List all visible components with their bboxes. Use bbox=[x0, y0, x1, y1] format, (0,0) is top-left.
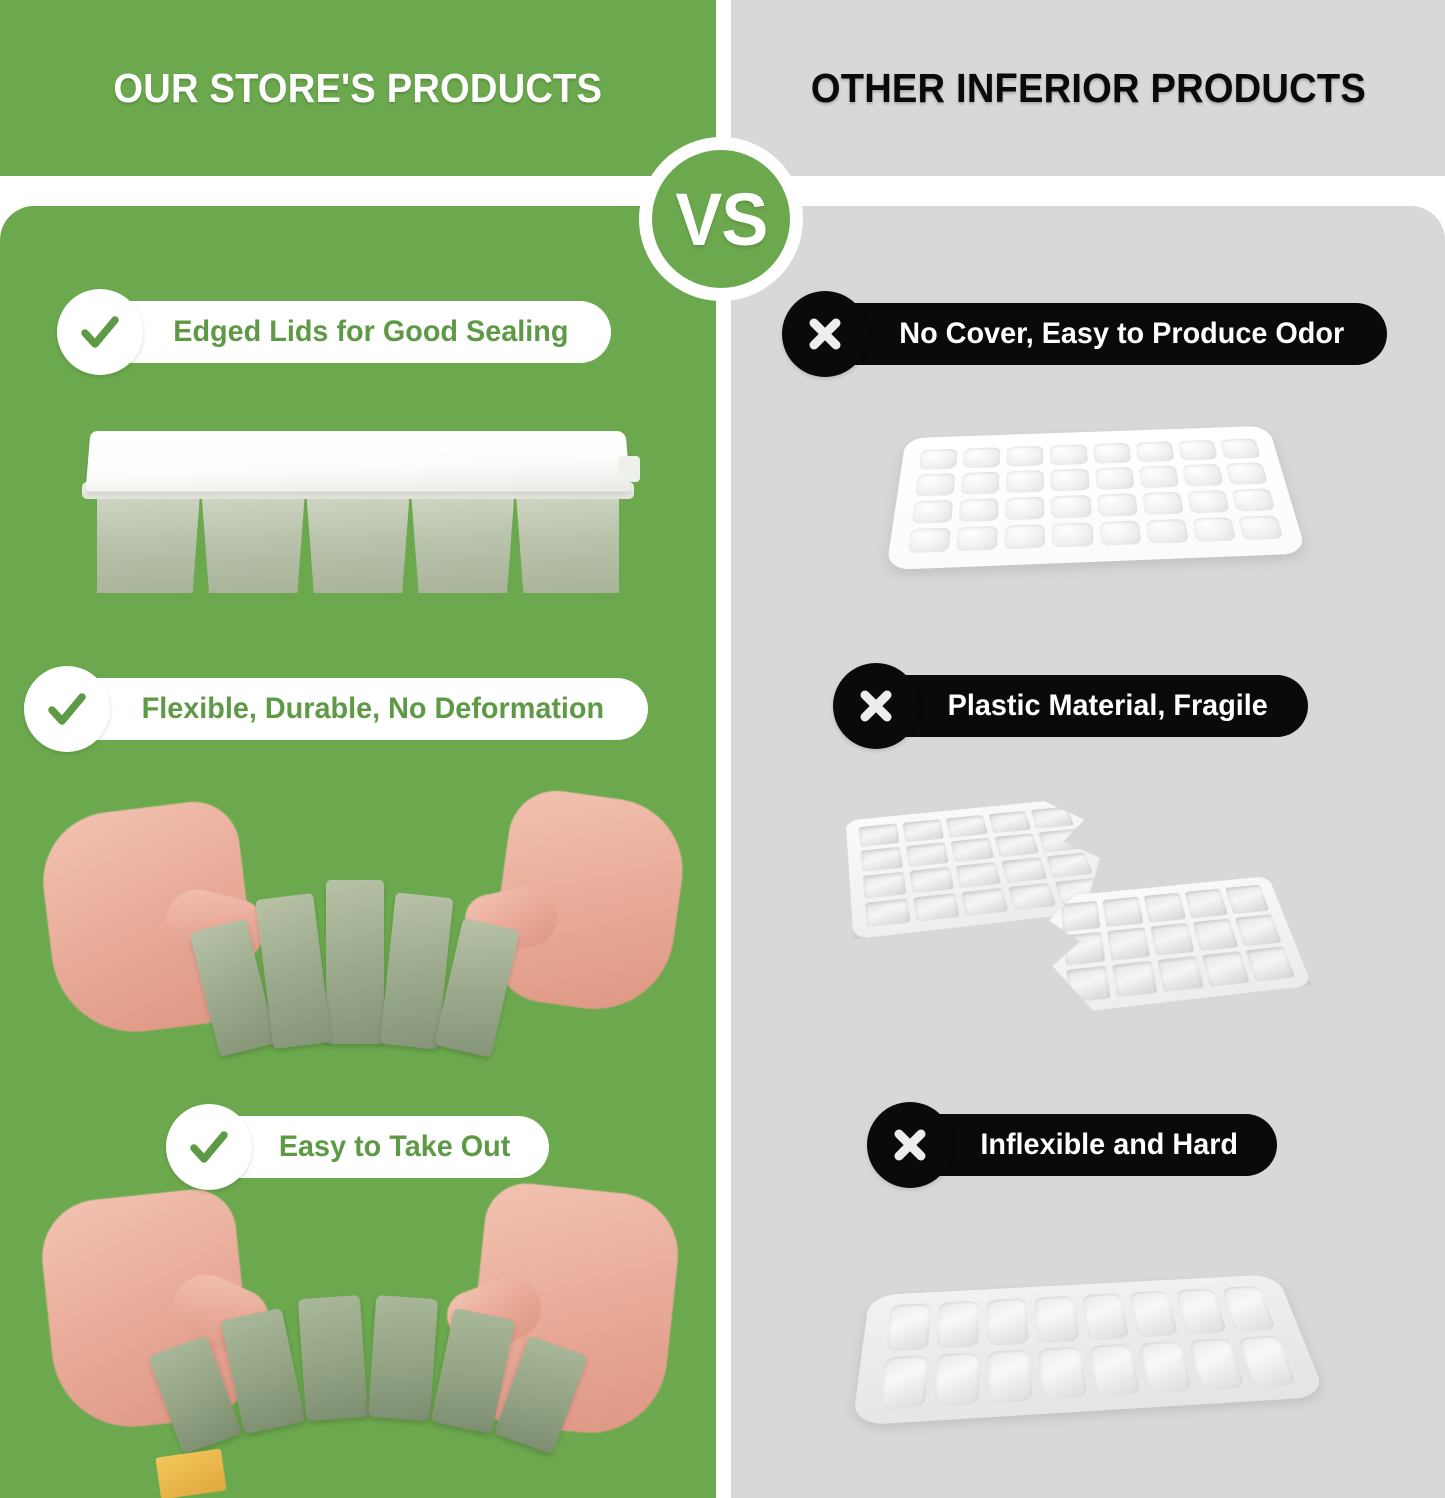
tray-cell bbox=[1142, 491, 1184, 515]
feature-pill-bar: Flexible, Durable, No Deformation bbox=[62, 678, 648, 740]
tray-cell bbox=[368, 1295, 438, 1421]
tray-cell bbox=[1135, 441, 1174, 462]
release-tab bbox=[155, 1449, 226, 1498]
tray-cell bbox=[1129, 1291, 1178, 1337]
tray-cell bbox=[995, 833, 1039, 857]
tray-cell bbox=[912, 500, 954, 524]
tray-cell bbox=[961, 888, 1008, 916]
tray-cell bbox=[1225, 885, 1269, 915]
tray-cell bbox=[1225, 462, 1267, 484]
tray-cell bbox=[1046, 852, 1093, 878]
tray-cell bbox=[1051, 469, 1090, 491]
tray-cell bbox=[906, 842, 949, 867]
right-column-title: OTHER INFERIOR PRODUCTS bbox=[810, 65, 1365, 112]
tray-cell bbox=[1052, 522, 1093, 547]
feature-pill-flexible-durable: Flexible, Durable, No Deformation bbox=[24, 666, 648, 752]
tray-cell bbox=[1099, 520, 1141, 545]
tray-cell bbox=[959, 498, 999, 522]
ice-tray-16-cells bbox=[852, 1274, 1326, 1425]
feature-label: Edged Lids for Good Sealing bbox=[173, 315, 568, 349]
tray-compartments bbox=[97, 497, 619, 593]
drawback-pill-bar: No Cover, Easy to Produce Odor bbox=[820, 303, 1387, 365]
tray-cell bbox=[1185, 889, 1228, 919]
tray-cell bbox=[1178, 440, 1218, 461]
tray-cell bbox=[1112, 961, 1157, 998]
tray-cell bbox=[1107, 927, 1150, 960]
tray-cell bbox=[956, 862, 1001, 888]
bent-tray bbox=[162, 1287, 592, 1467]
tray-cell bbox=[1220, 438, 1261, 459]
ice-tray-32-cells bbox=[886, 426, 1307, 570]
tray-cell bbox=[861, 847, 903, 872]
tray-cell bbox=[1093, 443, 1131, 464]
tray-cell bbox=[1175, 1288, 1227, 1334]
drawback-label: Plastic Material, Fragile bbox=[948, 689, 1268, 723]
drawback-pill-inflexible-hard: Inflexible and Hard bbox=[867, 1102, 1277, 1188]
feature-label: Easy to Take Out bbox=[279, 1130, 511, 1164]
tray-cell bbox=[1063, 932, 1105, 966]
tray-cell bbox=[1238, 1335, 1297, 1387]
drawback-label: No Cover, Easy to Produce Odor bbox=[899, 317, 1344, 351]
tray-cell bbox=[1188, 1338, 1244, 1391]
tray-cell bbox=[1089, 1343, 1140, 1396]
broken-tray-half-lower-right bbox=[1048, 876, 1313, 1015]
tray-cell bbox=[988, 1349, 1033, 1403]
check-icon bbox=[24, 666, 110, 752]
tray-cell bbox=[935, 1352, 979, 1406]
tray-cell bbox=[956, 526, 998, 552]
tray-cell bbox=[863, 872, 907, 899]
tray-cell bbox=[1192, 517, 1236, 542]
drawback-label: Inflexible and Hard bbox=[980, 1128, 1238, 1162]
tray-cell bbox=[1039, 1346, 1087, 1400]
product-image-hands-twisting-tray bbox=[30, 790, 690, 1070]
tray-cell bbox=[1139, 1341, 1192, 1394]
tray-cell bbox=[1001, 857, 1047, 883]
tray-lid bbox=[85, 431, 630, 491]
tray-cell bbox=[1145, 519, 1188, 544]
tray-cell bbox=[1193, 918, 1239, 951]
tray-cell bbox=[1082, 1293, 1129, 1340]
check-icon bbox=[166, 1104, 252, 1190]
feature-pill-bar: Easy to Take Out bbox=[204, 1116, 549, 1178]
tray-cell bbox=[1006, 470, 1044, 493]
feature-pill-edged-lids: Edged Lids for Good Sealing bbox=[57, 289, 611, 375]
product-image-broken-plastic-tray bbox=[840, 770, 1300, 1055]
cross-icon bbox=[782, 291, 868, 377]
tray-cell bbox=[1031, 807, 1075, 829]
tray-cell bbox=[1221, 1286, 1275, 1332]
tray-cell bbox=[909, 867, 954, 894]
tray-cell bbox=[1051, 495, 1091, 519]
check-icon bbox=[57, 289, 143, 375]
tray-cell bbox=[988, 811, 1031, 834]
tray-cell bbox=[298, 1295, 368, 1421]
tray-cell bbox=[902, 819, 943, 842]
tray-cell bbox=[516, 497, 619, 593]
product-image-white-uncovered-tray bbox=[880, 385, 1310, 600]
tray-cell bbox=[1235, 914, 1282, 946]
tray-cell bbox=[1144, 893, 1186, 923]
drawback-pill-no-cover: No Cover, Easy to Produce Odor bbox=[782, 291, 1387, 377]
cross-icon bbox=[867, 1102, 953, 1188]
tray-cell bbox=[1202, 951, 1250, 987]
tray-cell bbox=[946, 815, 988, 838]
tray-cell bbox=[963, 447, 1001, 468]
tray-cell bbox=[1138, 466, 1179, 488]
tray-cell bbox=[908, 527, 951, 553]
right-column-header: OTHER INFERIOR PRODUCTS bbox=[731, 0, 1445, 176]
tray-cell bbox=[913, 893, 959, 922]
tray-cell bbox=[886, 1303, 930, 1351]
tray-cell bbox=[411, 497, 514, 593]
tray-cell bbox=[1061, 901, 1101, 932]
tray-cell bbox=[1035, 1296, 1080, 1343]
tray-cell bbox=[326, 880, 384, 1044]
comparison-infographic: OUR STORE'S PRODUCTS OTHER INFERIOR PROD… bbox=[0, 0, 1445, 1498]
versus-label: VS bbox=[675, 177, 767, 262]
tray-cell bbox=[1005, 496, 1044, 520]
tray-cell bbox=[202, 497, 305, 593]
drawback-pill-plastic-fragile: Plastic Material, Fragile bbox=[833, 663, 1308, 749]
product-image-covered-green-tray bbox=[88, 430, 628, 600]
product-image-hands-bending-tray bbox=[24, 1195, 700, 1495]
feature-pill-bar: Edged Lids for Good Sealing bbox=[95, 301, 611, 363]
left-column-header: OUR STORE'S PRODUCTS bbox=[0, 0, 716, 176]
tray-cell bbox=[1238, 515, 1283, 540]
drawback-pill-bar: Inflexible and Hard bbox=[905, 1114, 1277, 1176]
tray-cell bbox=[987, 1298, 1029, 1345]
tray-cell bbox=[1246, 946, 1295, 981]
tray-cell bbox=[859, 823, 900, 847]
versus-badge: VS bbox=[639, 137, 803, 301]
tray-cell bbox=[1050, 444, 1087, 465]
tray-cell bbox=[865, 898, 910, 927]
tray-cell bbox=[961, 472, 1000, 495]
tray-cell bbox=[1157, 956, 1204, 992]
tray-cell bbox=[1007, 446, 1044, 467]
lid-tab bbox=[618, 456, 640, 482]
tray-cell bbox=[915, 473, 955, 496]
tray-cell bbox=[1182, 464, 1223, 486]
tray-cell bbox=[97, 497, 200, 593]
tray-cell bbox=[880, 1355, 928, 1410]
feature-pill-easy-take-out: Easy to Take Out bbox=[166, 1104, 549, 1190]
tray-cell bbox=[1150, 923, 1194, 956]
product-image-rigid-ice-tray bbox=[850, 1235, 1320, 1465]
feature-label: Flexible, Durable, No Deformation bbox=[142, 692, 604, 726]
tray-cell bbox=[1187, 490, 1230, 514]
tray-cell bbox=[1097, 493, 1138, 517]
tray-cell bbox=[1102, 897, 1143, 928]
tray-cell bbox=[1005, 524, 1046, 549]
left-column-title: OUR STORE'S PRODUCTS bbox=[114, 65, 603, 112]
tray-cell bbox=[1038, 829, 1083, 853]
drawback-pill-bar: Plastic Material, Fragile bbox=[871, 675, 1308, 737]
tray-cell bbox=[937, 1301, 979, 1349]
cross-icon bbox=[833, 663, 919, 749]
tray-cell bbox=[1095, 467, 1135, 489]
tray-cell bbox=[1008, 883, 1056, 911]
tray-cell bbox=[950, 838, 994, 863]
tray-cell bbox=[1066, 966, 1110, 1003]
tray-cell bbox=[307, 497, 410, 593]
tray-cell bbox=[919, 449, 958, 470]
flexed-tray bbox=[202, 844, 524, 1044]
tray-cell bbox=[1231, 488, 1275, 511]
